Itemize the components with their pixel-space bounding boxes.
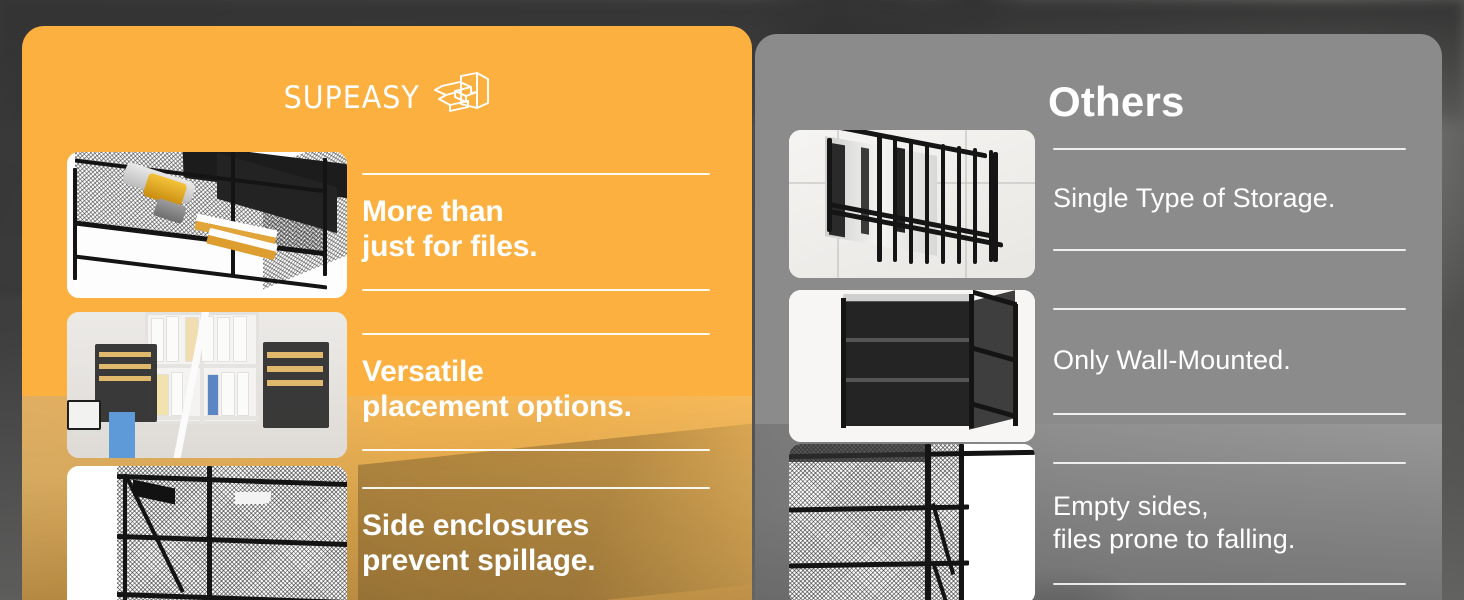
comparison-banner: SUPEASY	[0, 0, 1464, 600]
feature-row: Versatile placement options.	[22, 312, 752, 458]
other-text: Only Wall-Mounted.	[1053, 344, 1406, 377]
other-image	[789, 290, 1035, 442]
feature-text: Versatile placement options.	[362, 355, 710, 425]
isometric-s-box-icon	[433, 72, 489, 123]
feature-divider-bottom	[362, 449, 710, 451]
feature-row: More than just for files.	[22, 152, 752, 298]
other-row: Only Wall-Mounted.	[755, 290, 1442, 442]
other-row: Single Type of Storage.	[755, 130, 1442, 278]
other-text: Single Type of Storage.	[1053, 182, 1406, 215]
other-text: Empty sides, files prone to falling.	[1053, 490, 1406, 557]
feature-divider-top	[362, 173, 710, 175]
other-divider-top	[1053, 148, 1406, 150]
other-divider-top	[1053, 462, 1406, 464]
other-divider-bottom	[1053, 249, 1406, 251]
feature-divider-top	[362, 487, 710, 489]
feature-text: Side enclosures prevent spillage.	[362, 509, 710, 579]
other-divider-top	[1053, 308, 1406, 310]
brand-panel: SUPEASY	[22, 26, 752, 600]
brand-logo: SUPEASY	[22, 72, 752, 123]
others-panel: Others	[755, 34, 1442, 600]
other-divider-bottom	[1053, 413, 1406, 415]
feature-row: Side enclosures prevent spillage.	[22, 466, 752, 600]
other-row: Empty sides, files prone to falling.	[755, 444, 1442, 600]
feature-divider-top	[362, 333, 710, 335]
others-title: Others	[1048, 78, 1185, 126]
feature-image	[67, 466, 347, 600]
brand-name: SUPEASY	[284, 80, 420, 116]
feature-divider-bottom	[362, 289, 710, 291]
other-image	[789, 130, 1035, 278]
other-divider-bottom	[1053, 583, 1406, 585]
other-image	[789, 444, 1035, 600]
feature-text: More than just for files.	[362, 195, 710, 265]
feature-image	[67, 312, 347, 458]
feature-image	[67, 152, 347, 298]
